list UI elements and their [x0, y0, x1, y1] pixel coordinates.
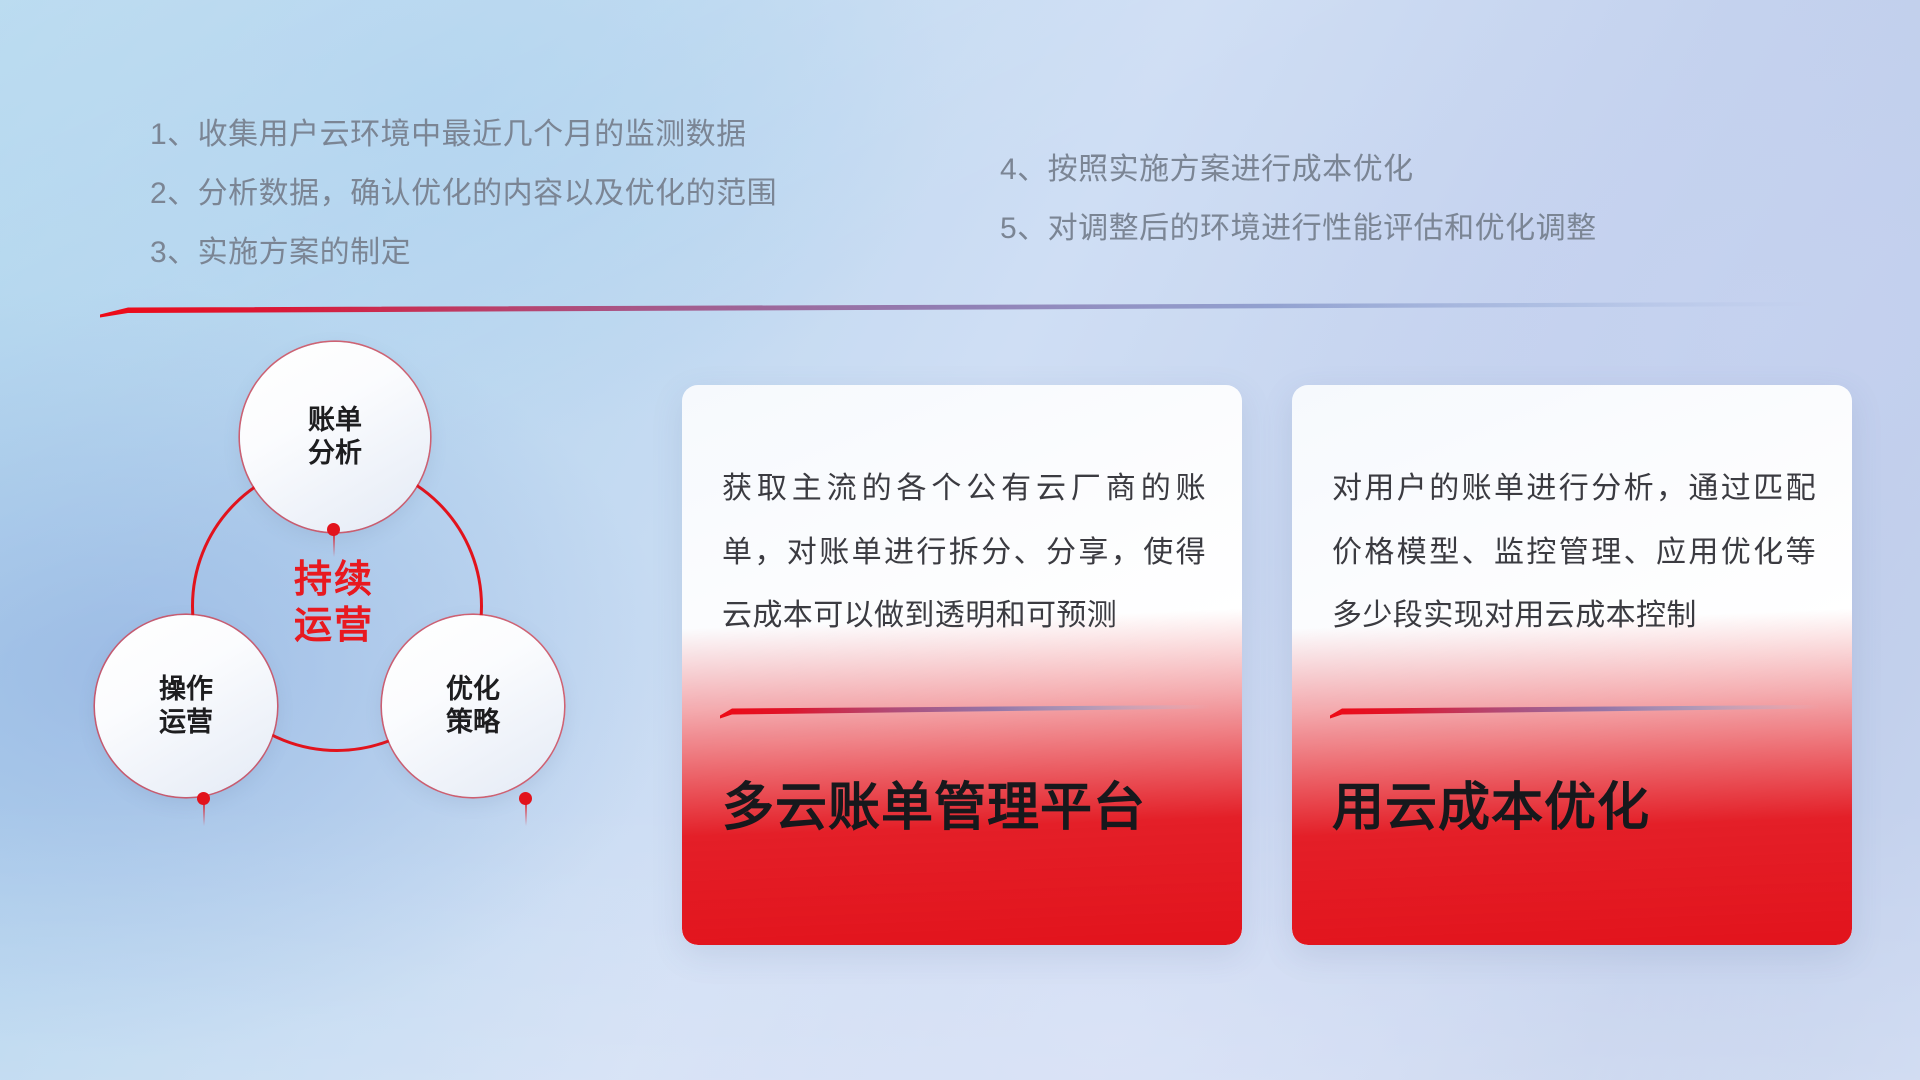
steps-left-column: 1、收集用户云环境中最近几个月的监测数据 2、分析数据，确认优化的内容以及优化的…	[150, 120, 777, 268]
card-title: 多云账单管理平台	[722, 777, 1212, 839]
accent-taper-icon	[1330, 703, 1820, 721]
card-accent-line	[1330, 703, 1820, 721]
steps-right-column: 4、按照实施方案进行成本优化 5、对调整后的环境进行性能评估和优化调整	[1000, 155, 1597, 244]
card-description: 获取主流的各个公有云厂商的账单，对账单进行拆分、分享，使得云成本可以做到透明和可…	[722, 457, 1206, 648]
step-item-2: 2、分析数据，确认优化的内容以及优化的范围	[150, 179, 777, 209]
accent-taper-icon	[720, 703, 1210, 721]
node-dot-right	[519, 792, 532, 805]
step-item-4: 4、按照实施方案进行成本优化	[1000, 155, 1597, 185]
node-label-line1: 账单	[308, 404, 362, 437]
node-dot-top	[327, 523, 340, 536]
node-tail-top	[333, 535, 335, 557]
step-item-1: 1、收集用户云环境中最近几个月的监测数据	[150, 120, 777, 150]
center-label-line1: 持续	[294, 557, 374, 603]
continuous-operation-diagram: 持续 运营 账单 分析 操作 运营 优化 策略	[95, 350, 655, 950]
slide-canvas: 1、收集用户云环境中最近几个月的监测数据 2、分析数据，确认优化的内容以及优化的…	[0, 0, 1920, 1080]
feature-card-multicloud-billing[interactable]: 获取主流的各个公有云厂商的账单，对账单进行拆分、分享，使得云成本可以做到透明和可…	[682, 385, 1242, 945]
node-tail-right	[525, 804, 527, 826]
step-item-5: 5、对调整后的环境进行性能评估和优化调整	[1000, 214, 1597, 244]
center-label-line2: 运营	[294, 603, 374, 649]
step-item-3: 3、实施方案的制定	[150, 238, 777, 268]
node-dot-left	[197, 792, 210, 805]
section-divider	[100, 300, 1820, 322]
feature-card-cloud-cost-optimization[interactable]: 对用户的账单进行分析，通过匹配价格模型、监控管理、应用优化等多少段实现对用云成本…	[1292, 385, 1852, 945]
divider-taper-icon	[100, 300, 1820, 322]
diagram-center-label: 持续 运营	[191, 460, 477, 746]
card-description: 对用户的账单进行分析，通过匹配价格模型、监控管理、应用优化等多少段实现对用云成本…	[1332, 457, 1816, 648]
card-accent-line	[720, 703, 1210, 721]
node-tail-left	[203, 804, 205, 826]
card-title: 用云成本优化	[1332, 777, 1822, 839]
